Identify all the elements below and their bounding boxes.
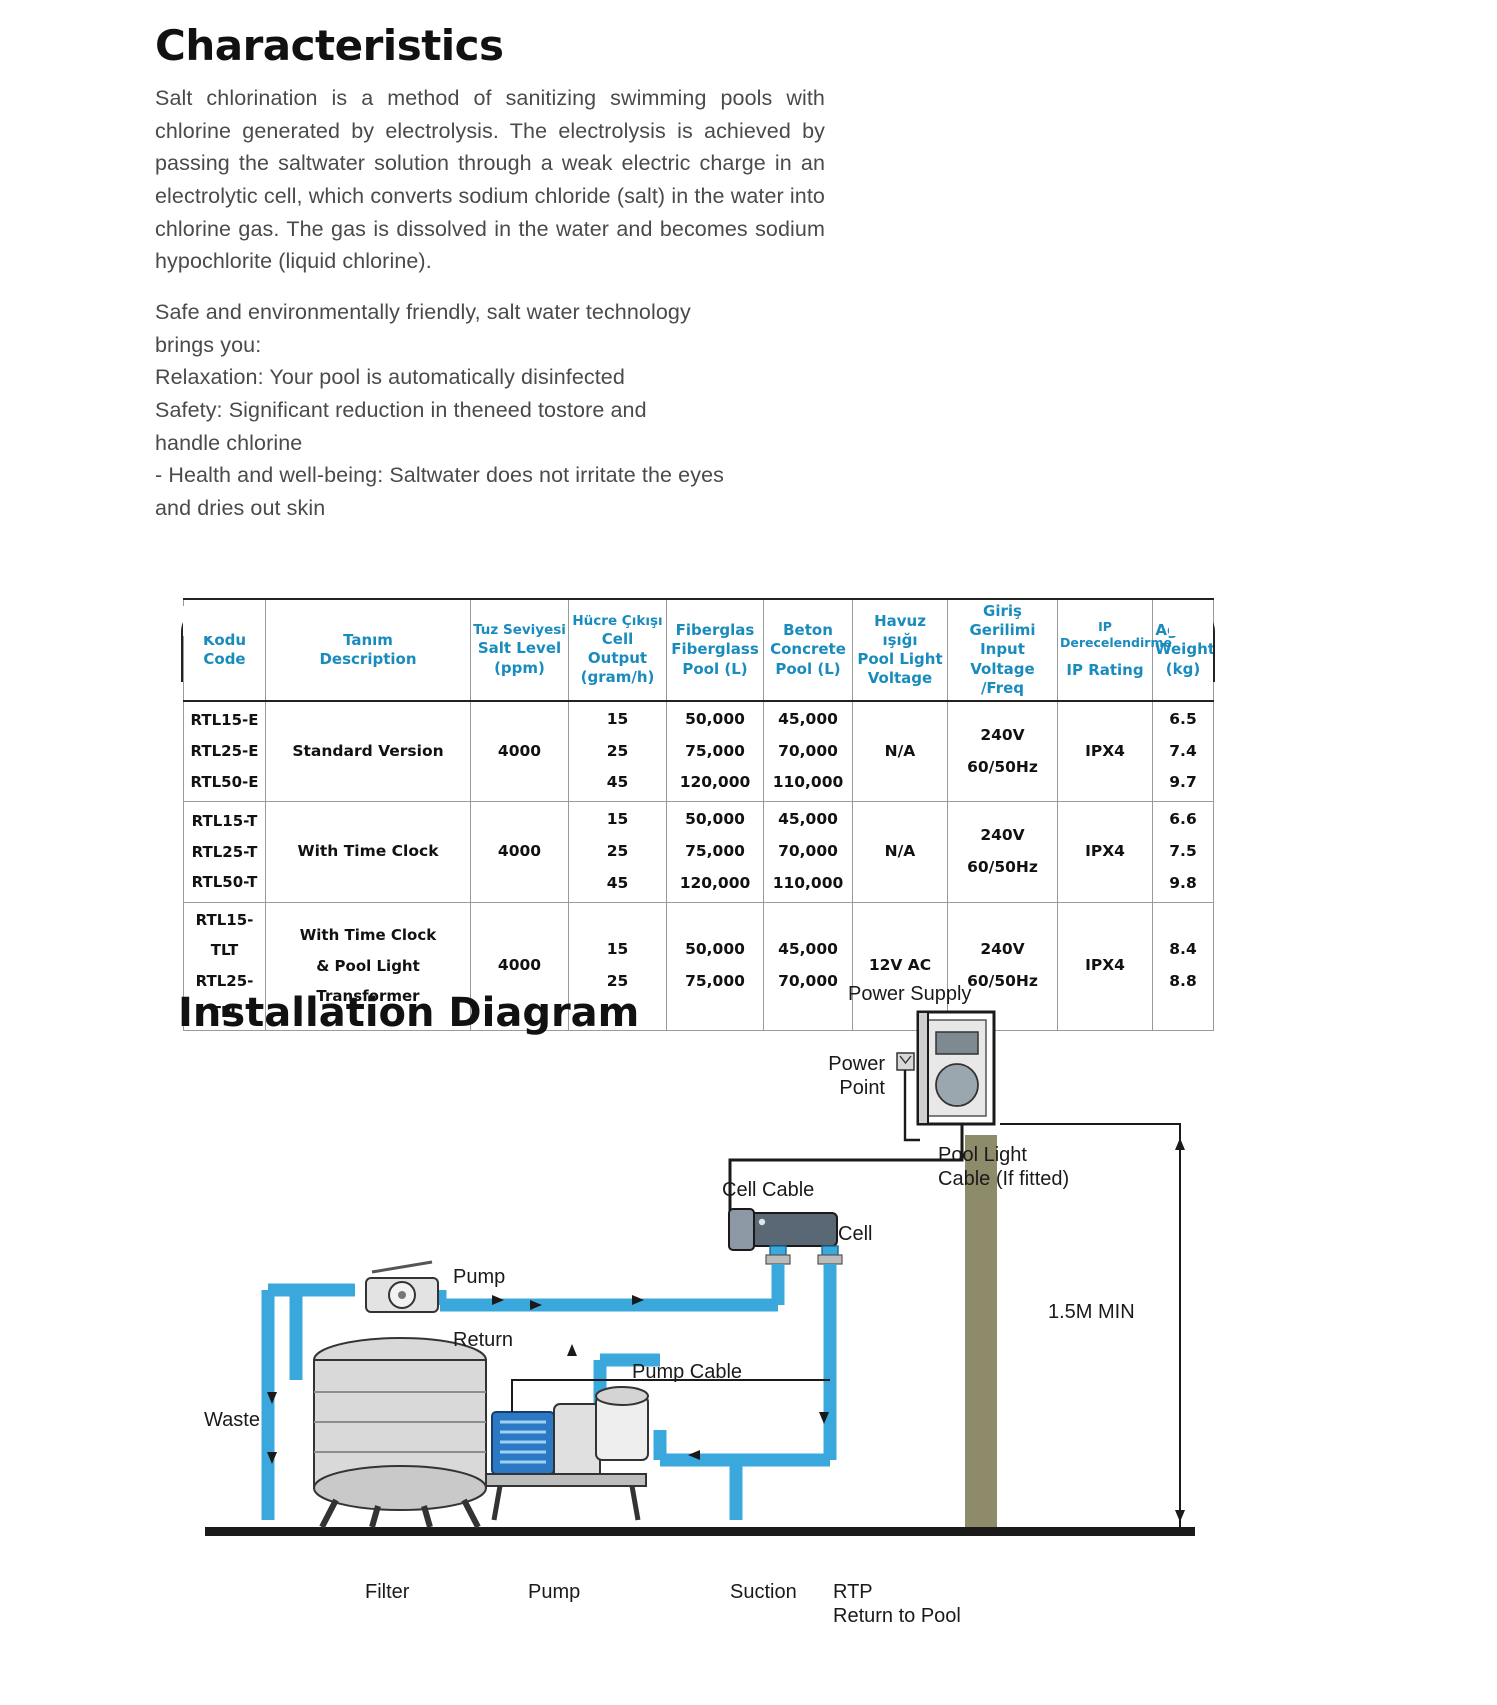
col-header-pool-light-voltage: Havuz ışığı Pool Light Voltage xyxy=(853,599,948,701)
ground-line xyxy=(205,1527,1195,1536)
value: 75,000 xyxy=(669,836,761,868)
characteristics-benefit-list: Safe and environmentally friendly, salt … xyxy=(155,296,825,525)
col-header-salt-level: Tuz Seviyesi Salt Level (ppm) xyxy=(471,599,569,701)
value: 75,000 xyxy=(669,736,761,768)
cell-description: With Time Clock xyxy=(266,802,471,902)
list-item: - Health and well-being: Saltwater does … xyxy=(155,459,825,492)
list-item: and dries out skin xyxy=(155,492,825,525)
header-tr-label: Tuz Seviyesi xyxy=(473,622,566,639)
cell-weight: 6.6 7.5 9.8 xyxy=(1153,802,1214,902)
header-tr-label: Hücre Çıkışı xyxy=(571,613,664,630)
value: 25 xyxy=(571,836,664,868)
header-tr-label: Havuz ışığı xyxy=(855,612,945,650)
cell-salt-level: 4000 xyxy=(471,701,569,802)
header-unit-label: Pool (L) xyxy=(766,660,850,679)
value: 50,000 xyxy=(669,704,761,736)
label-cell: Cell xyxy=(838,1222,872,1246)
value: 9.8 xyxy=(1155,868,1211,900)
value: 45 xyxy=(571,767,664,799)
value: 9.7 xyxy=(1155,767,1211,799)
cell-code: RTL15-E RTL25-E RTL50-E xyxy=(184,701,266,802)
value: 7.4 xyxy=(1155,736,1211,768)
cell-pool-light-voltage: N/A xyxy=(853,802,948,902)
value: 45,000 xyxy=(766,804,850,836)
header-en-label: IP Rating xyxy=(1060,661,1150,680)
label-min-height: 1.5M MIN xyxy=(1048,1300,1135,1324)
cell-cell-output: 15 25 45 xyxy=(569,802,667,902)
table-corner-mask-left xyxy=(183,606,227,636)
value: 6.6 xyxy=(1155,804,1211,836)
col-header-input-voltage: Giriş Gerilimi Input Voltage /Freq xyxy=(948,599,1058,701)
header-unit-label: Pool (L) xyxy=(669,660,761,679)
label-pump-cable: Pump Cable xyxy=(632,1360,742,1384)
min-height-dimension xyxy=(1175,1138,1185,1522)
value: 50,000 xyxy=(669,804,761,836)
label-power-point: Power Point xyxy=(773,1052,885,1100)
cell-fiberglass-pool: 50,000 75,000 120,000 xyxy=(667,802,764,902)
header-en-label: Input Voltage xyxy=(950,640,1055,678)
label-power-supply: Power Supply xyxy=(848,982,971,1006)
header-en-label: Cell Output xyxy=(571,630,664,668)
header-en-label: Description xyxy=(268,650,468,669)
header-en-label: Salt Level xyxy=(473,639,566,658)
code-value: RTL50-T xyxy=(186,867,263,898)
table-row: RTL15-E RTL25-E RTL50-E Standard Version… xyxy=(184,701,1214,802)
header-en-label: Fiberglass xyxy=(669,640,761,659)
pool-pump xyxy=(486,1387,648,1520)
cell-cell-output: 15 25 45 xyxy=(569,701,667,802)
list-item: Safety: Significant reduction in theneed… xyxy=(155,394,825,427)
code-value: RTL15-T xyxy=(186,806,263,837)
label-filter: Filter xyxy=(365,1580,409,1604)
label-return: Return xyxy=(453,1328,513,1352)
cell-concrete-pool: 45,000 70,000 110,000 xyxy=(764,802,853,902)
value: 25 xyxy=(571,736,664,768)
label-pump-top: Pump xyxy=(453,1265,505,1289)
code-value: RTL25-E xyxy=(186,736,263,767)
value: 45,000 xyxy=(766,704,850,736)
table-row: RTL15-T RTL25-T RTL50-T With Time Clock … xyxy=(184,802,1214,902)
page-title: Characteristics xyxy=(155,24,825,68)
value: 120,000 xyxy=(669,767,761,799)
header-unit-label: (gram/h) xyxy=(571,668,664,687)
code-value: RTL50-E xyxy=(186,767,263,798)
header-en-label: Pool Light xyxy=(855,650,945,669)
code-value: RTL15-E xyxy=(186,705,263,736)
characteristics-section: Characteristics Salt chlorination is a m… xyxy=(155,24,825,525)
cell-concrete-pool: 45,000 70,000 110,000 xyxy=(764,701,853,802)
value: 6.5 xyxy=(1155,704,1211,736)
value: 45 xyxy=(571,868,664,900)
list-item: Relaxation: Your pool is automatically d… xyxy=(155,361,825,394)
multiport-valve xyxy=(366,1262,438,1312)
header-en-label: Weight xyxy=(1155,640,1211,659)
header-unit-label: (kg) xyxy=(1155,660,1211,679)
list-item: Safe and environmentally friendly, salt … xyxy=(155,296,825,329)
header-unit-label: Voltage xyxy=(855,669,945,688)
cell-input-voltage: 240V 60/50Hz xyxy=(948,701,1058,802)
table-header-row: Kodu Code Tanım Description Tuz Seviyesi… xyxy=(184,599,1214,701)
cell-salt-level: 4000 xyxy=(471,802,569,902)
characteristics-paragraph: Salt chlorination is a method of sanitiz… xyxy=(155,82,825,278)
cell-weight: 6.5 7.4 9.7 xyxy=(1153,701,1214,802)
cell-description: Standard Version xyxy=(266,701,471,802)
table-corner-mask-right xyxy=(1169,606,1213,636)
value: 15 xyxy=(571,804,664,836)
installation-diagram: Power Supply Power Point Pool Light Cabl… xyxy=(0,960,1497,1700)
cell-ip-rating: IPX4 xyxy=(1058,802,1153,902)
cell-device xyxy=(729,1209,842,1264)
value: 70,000 xyxy=(766,836,850,868)
value: 15 xyxy=(571,704,664,736)
header-unit-label: /Freq xyxy=(950,679,1055,698)
cell-code: RTL15-T RTL25-T RTL50-T xyxy=(184,802,266,902)
power-point-outlet xyxy=(897,1053,914,1070)
header-tr-label: Fiberglas xyxy=(669,621,761,640)
header-tr-label: IP Derecelendirme xyxy=(1060,619,1150,651)
list-item: brings you: xyxy=(155,329,825,362)
list-item: handle chlorine xyxy=(155,427,825,460)
cell-fiberglass-pool: 50,000 75,000 120,000 xyxy=(667,701,764,802)
label-cell-cable: Cell Cable xyxy=(722,1178,814,1202)
value: 70,000 xyxy=(766,736,850,768)
cell-input-voltage: 240V 60/50Hz xyxy=(948,802,1058,902)
col-header-cell-output: Hücre Çıkışı Cell Output (gram/h) xyxy=(569,599,667,701)
code-value: RTL15-TLT xyxy=(186,905,263,967)
header-tr-label: Beton xyxy=(766,621,850,640)
label-suction: Suction xyxy=(730,1580,797,1604)
header-tr-label: Tanım xyxy=(268,631,468,650)
col-header-concrete-pool: Beton Concrete Pool (L) xyxy=(764,599,853,701)
cell-ip-rating: IPX4 xyxy=(1058,701,1153,802)
cell-pool-light-voltage: N/A xyxy=(853,701,948,802)
value: 120,000 xyxy=(669,868,761,900)
label-waste: Waste xyxy=(204,1408,260,1432)
header-tr-label: Giriş Gerilimi xyxy=(950,602,1055,640)
header-unit-label: (ppm) xyxy=(473,659,566,678)
label-pump-bottom: Pump xyxy=(528,1580,580,1604)
power-supply-unit xyxy=(918,1012,994,1124)
value: 110,000 xyxy=(766,767,850,799)
label-pool-light-cable: Pool Light Cable (If fitted) xyxy=(938,1143,1069,1191)
header-en-label: Code xyxy=(186,650,263,669)
col-header-ip-rating: IP Derecelendirme IP Rating xyxy=(1058,599,1153,701)
col-header-description: Tanım Description xyxy=(266,599,471,701)
header-en-label: Concrete xyxy=(766,640,850,659)
value: 110,000 xyxy=(766,868,850,900)
label-rtp: RTP Return to Pool xyxy=(833,1580,961,1628)
code-value: RTL25-T xyxy=(186,837,263,868)
return-to-pool-column xyxy=(965,1135,997,1527)
value: 7.5 xyxy=(1155,836,1211,868)
col-header-fiberglass-pool: Fiberglas Fiberglass Pool (L) xyxy=(667,599,764,701)
